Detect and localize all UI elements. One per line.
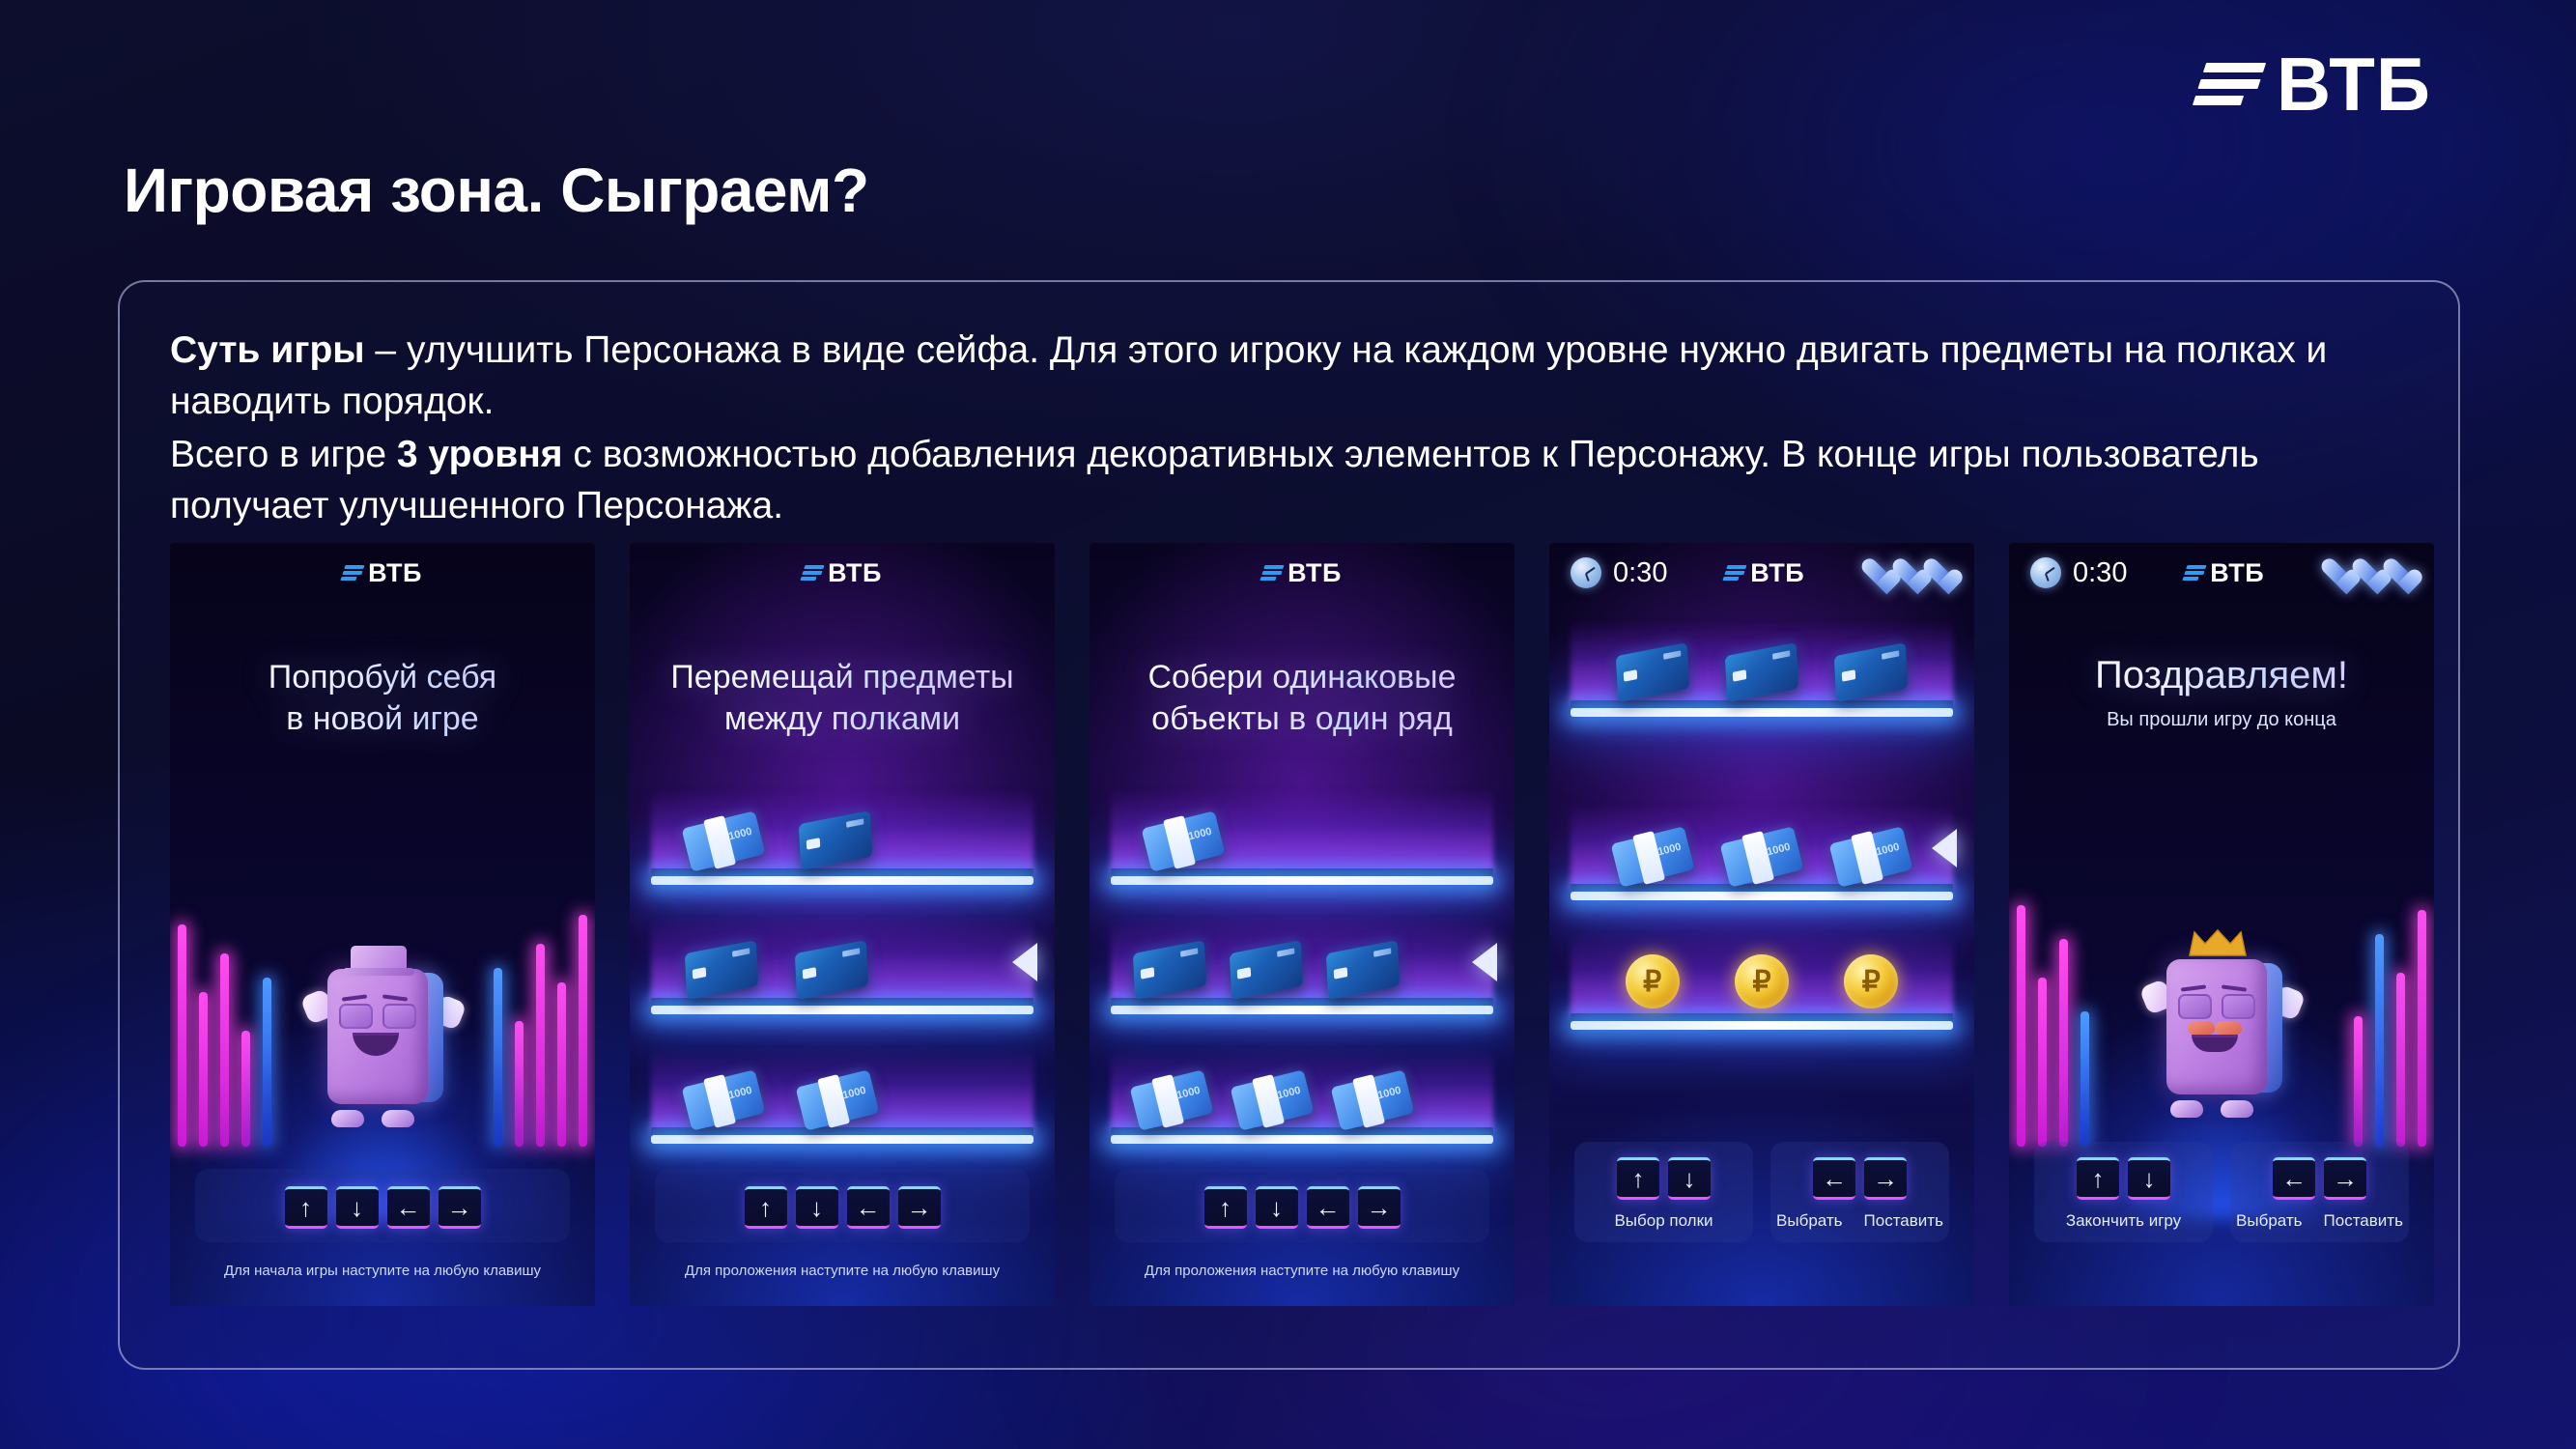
bank-card-item[interactable] bbox=[1834, 642, 1908, 702]
shelf-selector-icon bbox=[1012, 943, 1037, 981]
heart-icon bbox=[1862, 559, 1891, 586]
heart-icon bbox=[1893, 559, 1922, 586]
bank-card-item[interactable] bbox=[1615, 642, 1688, 702]
key-left-icon[interactable]: ← bbox=[2273, 1157, 2315, 1200]
money-bundle-item[interactable]: 1000 bbox=[1142, 810, 1226, 872]
vtb-logo-icon: ВТБ bbox=[1262, 558, 1342, 588]
screen-hint: Для проложения наступите на любую клавиш… bbox=[1090, 1263, 1514, 1279]
money-bundle-item[interactable]: 1000 bbox=[1231, 1069, 1315, 1131]
clock-icon bbox=[1571, 557, 1601, 588]
description-bold-2: 3 уровня bbox=[397, 434, 563, 475]
bank-card-item[interactable] bbox=[1326, 940, 1400, 1000]
shelf-selector-icon bbox=[1932, 829, 1957, 867]
lives-indicator bbox=[2322, 559, 2413, 586]
money-bundle-item[interactable]: 1000 bbox=[1720, 826, 1804, 888]
key-left-icon[interactable]: ← bbox=[387, 1186, 430, 1229]
mascot-glasses-icon bbox=[2178, 994, 2255, 1019]
shelf-select-pane[interactable]: ↑ ↓ Выбор полки bbox=[1574, 1142, 1753, 1242]
finish-game-pane[interactable]: ↑ ↓ Закончить игру bbox=[2034, 1142, 2213, 1242]
game-screen-intro[interactable]: ВТБ Попробуй себя в новой игре bbox=[170, 543, 595, 1306]
description-paragraph-2: Всего в игре 3 уровня с возможностью доб… bbox=[170, 429, 2408, 531]
vtb-logo-icon: ВТБ bbox=[803, 558, 882, 588]
timer-value: 0:30 bbox=[2073, 557, 2127, 589]
money-bundle-item[interactable]: 1000 bbox=[682, 1069, 766, 1131]
vtb-mini-text: ВТБ bbox=[368, 558, 422, 588]
page-title: Игровая зона. Сыграем? bbox=[124, 155, 869, 226]
control-panel: ↑ ↓ Закончить игру ← → Выбрать Поставить bbox=[2034, 1142, 2409, 1242]
shelf-row[interactable] bbox=[630, 910, 1055, 1014]
bank-card-item[interactable] bbox=[799, 810, 872, 870]
control-panel: ↑ ↓ Выбор полки ← → Выбрать Поставить bbox=[1574, 1142, 1949, 1242]
vtb-mini-text: ВТБ bbox=[1288, 558, 1342, 588]
crown-icon bbox=[2188, 928, 2248, 957]
game-screen-level-2[interactable]: ВТБ Собери одинаковые объекты в один ряд… bbox=[1090, 543, 1514, 1306]
control-panel: ↑ ↓ ← → bbox=[655, 1169, 1030, 1242]
key-right-icon[interactable]: → bbox=[439, 1186, 481, 1229]
shelf-row[interactable] bbox=[1549, 612, 1974, 717]
heart-icon bbox=[1924, 559, 1953, 586]
lives-indicator bbox=[1862, 559, 1953, 586]
description-block: Суть игры – улучшить Персонажа в виде се… bbox=[170, 325, 2408, 531]
key-right-icon[interactable]: → bbox=[2324, 1157, 2366, 1200]
key-up-icon[interactable]: ↑ bbox=[1204, 1186, 1247, 1229]
timer: 0:30 bbox=[1571, 557, 1667, 589]
screen-hint: Для начала игры наступите на любую клави… bbox=[170, 1263, 595, 1279]
timer-value: 0:30 bbox=[1613, 557, 1667, 589]
bank-card-item[interactable] bbox=[795, 940, 868, 1000]
coin-item[interactable]: ₽ bbox=[1844, 954, 1898, 1009]
key-right-icon[interactable]: → bbox=[1864, 1157, 1907, 1200]
place-label: Поставить bbox=[2324, 1211, 2403, 1231]
screen-title: Попробуй себя в новой игре bbox=[170, 657, 595, 739]
key-left-icon[interactable]: ← bbox=[1307, 1186, 1349, 1229]
vtb-logo-icon: ВТБ bbox=[2185, 558, 2264, 588]
shelf-stack: 1000 1000 1000 ₽ ₽ ₽ bbox=[1549, 612, 1974, 1055]
screen-header: 0:30 ВТБ bbox=[2009, 543, 2434, 603]
mascot-mustache-icon bbox=[2188, 1021, 2242, 1035]
item-action-pane[interactable]: ← → Выбрать Поставить bbox=[2230, 1142, 2409, 1242]
key-up-icon[interactable]: ↑ bbox=[1617, 1157, 1659, 1200]
key-down-icon[interactable]: ↓ bbox=[336, 1186, 379, 1229]
arrow-keys-vertical[interactable]: ↑ ↓ bbox=[1574, 1157, 1753, 1200]
description-text-2a: Всего в игре bbox=[170, 434, 397, 475]
vtb-logo-bars-icon bbox=[2193, 63, 2266, 105]
description-bold-1: Суть игры bbox=[170, 329, 365, 371]
shelf-stack: 1000 bbox=[630, 781, 1055, 1169]
mascot-hat-icon bbox=[351, 946, 407, 971]
money-bundle-item[interactable]: 1000 bbox=[1610, 826, 1694, 888]
vtb-mini-text: ВТБ bbox=[1750, 558, 1804, 588]
screen-header: 0:30 ВТБ bbox=[1549, 543, 1974, 603]
screen-title: Перемещай предметы между полками bbox=[630, 657, 1055, 739]
key-up-icon[interactable]: ↑ bbox=[285, 1186, 327, 1229]
money-bundle-item[interactable]: 1000 bbox=[1829, 826, 1913, 888]
arrow-keys[interactable]: ↑ ↓ ← → bbox=[1115, 1186, 1489, 1229]
heart-icon bbox=[2384, 559, 2413, 586]
screen-header: ВТБ bbox=[170, 543, 595, 603]
vtb-logo-icon: ВТБ bbox=[343, 558, 422, 588]
bank-card-item[interactable] bbox=[685, 940, 758, 1000]
arrow-keys[interactable]: ↑ ↓ ← → bbox=[655, 1186, 1030, 1229]
key-down-icon[interactable]: ↓ bbox=[1256, 1186, 1298, 1229]
bank-card-item[interactable] bbox=[1133, 940, 1206, 1000]
shelf-selector-icon bbox=[1472, 943, 1497, 981]
heart-icon bbox=[2322, 559, 2351, 586]
description-paragraph-1: Суть игры – улучшить Персонажа в виде се… bbox=[170, 325, 2408, 427]
key-left-icon[interactable]: ← bbox=[1813, 1157, 1855, 1200]
arrow-keys[interactable]: ↑ ↓ ← → bbox=[195, 1186, 570, 1229]
money-bundle-item[interactable]: 1000 bbox=[1130, 1069, 1214, 1131]
pick-label: Выбрать bbox=[2236, 1211, 2302, 1231]
description-text-1: – улучшить Персонажа в виде сейфа. Для э… bbox=[170, 329, 2327, 422]
key-up-icon[interactable]: ↑ bbox=[2077, 1157, 2119, 1200]
vtb-logo-text: ВТБ bbox=[2277, 46, 2431, 122]
arrow-keys-vertical[interactable]: ↑ ↓ bbox=[2034, 1157, 2213, 1200]
content-card: Суть игры – улучшить Персонажа в виде се… bbox=[118, 280, 2460, 1370]
pick-label: Выбрать bbox=[1776, 1211, 1842, 1231]
key-left-icon[interactable]: ← bbox=[847, 1186, 890, 1229]
shelf-row[interactable]: ₽ ₽ ₽ bbox=[1549, 925, 1974, 1030]
screen-subtitle: Вы прошли игру до конца bbox=[2009, 709, 2434, 731]
control-panel: ↑ ↓ ← → bbox=[1115, 1169, 1489, 1242]
key-down-icon[interactable]: ↓ bbox=[1668, 1157, 1711, 1200]
bank-card-item[interactable] bbox=[1230, 940, 1303, 1000]
coin-item[interactable]: ₽ bbox=[1735, 954, 1789, 1009]
item-action-pane[interactable]: ← → Выбрать Поставить bbox=[1770, 1142, 1949, 1242]
game-screen-level-1[interactable]: ВТБ Перемещай предметы между полками 100… bbox=[630, 543, 1055, 1306]
money-bundle-item[interactable]: 1000 bbox=[682, 810, 766, 872]
mascot-foot-left bbox=[2170, 1100, 2203, 1118]
vtb-mini-text: ВТБ bbox=[2210, 558, 2264, 588]
slide-canvas: ВТБ Игровая зона. Сыграем? Суть игры – у… bbox=[0, 0, 2576, 1449]
safe-mascot bbox=[310, 944, 455, 1127]
mascot-foot-right bbox=[382, 1110, 414, 1127]
vtb-logo: ВТБ bbox=[2199, 46, 2431, 122]
shelf-row[interactable]: 1000 1000 1000 bbox=[1090, 1039, 1514, 1144]
finish-game-label: Закончить игру bbox=[2034, 1211, 2213, 1231]
mascot-foot-left bbox=[331, 1110, 364, 1127]
control-panel: ↑ ↓ ← → bbox=[195, 1169, 570, 1242]
screen-title: Поздравляем! bbox=[2009, 651, 2434, 699]
shelf-row[interactable]: 1000 bbox=[1090, 781, 1514, 885]
mascot-foot-right bbox=[2221, 1100, 2253, 1118]
coin-item[interactable]: ₽ bbox=[1626, 954, 1680, 1009]
screen-header: ВТБ bbox=[1090, 543, 1514, 603]
game-screen-level-3[interactable]: 0:30 ВТБ bbox=[1549, 543, 1974, 1306]
shelf-select-label: Выбор полки bbox=[1574, 1211, 1753, 1231]
mascot-glasses-icon bbox=[339, 1004, 416, 1029]
shelf-stack: 1000 bbox=[1090, 781, 1514, 1169]
money-bundle-item[interactable]: 1000 bbox=[796, 1069, 880, 1131]
shelf-row[interactable] bbox=[1090, 910, 1514, 1014]
key-down-icon[interactable]: ↓ bbox=[2128, 1157, 2170, 1200]
shelf-row[interactable]: 1000 1000 bbox=[630, 1039, 1055, 1144]
key-up-icon[interactable]: ↑ bbox=[745, 1186, 787, 1229]
bank-card-item[interactable] bbox=[1725, 642, 1798, 702]
screen-hint: Для проложения наступите на любую клавиш… bbox=[630, 1263, 1055, 1279]
screen-title: Собери одинаковые объекты в один ряд bbox=[1090, 657, 1514, 739]
clock-icon bbox=[2030, 557, 2061, 588]
arrow-keys-horizontal[interactable]: ← → bbox=[2230, 1157, 2409, 1200]
game-screen-finish[interactable]: 0:30 ВТБ Поздравляем! Вы прошли игру до … bbox=[2009, 543, 2434, 1306]
key-down-icon[interactable]: ↓ bbox=[796, 1186, 838, 1229]
vtb-logo-icon: ВТБ bbox=[1725, 558, 1804, 588]
game-screens-row: ВТБ Попробуй себя в новой игре bbox=[170, 543, 2434, 1306]
place-label: Поставить bbox=[1864, 1211, 1943, 1231]
safe-mascot-crowned bbox=[2149, 934, 2294, 1118]
key-right-icon[interactable]: → bbox=[898, 1186, 941, 1229]
vtb-mini-text: ВТБ bbox=[828, 558, 882, 588]
shelf-row[interactable]: 1000 1000 1000 bbox=[1549, 796, 1974, 900]
screen-header: ВТБ bbox=[630, 543, 1055, 603]
arrow-keys-horizontal[interactable]: ← → bbox=[1770, 1157, 1949, 1200]
key-right-icon[interactable]: → bbox=[1358, 1186, 1401, 1229]
shelf-row[interactable]: 1000 bbox=[630, 781, 1055, 885]
money-bundle-item[interactable]: 1000 bbox=[1331, 1069, 1415, 1131]
timer: 0:30 bbox=[2030, 557, 2127, 589]
heart-icon bbox=[2353, 559, 2382, 586]
